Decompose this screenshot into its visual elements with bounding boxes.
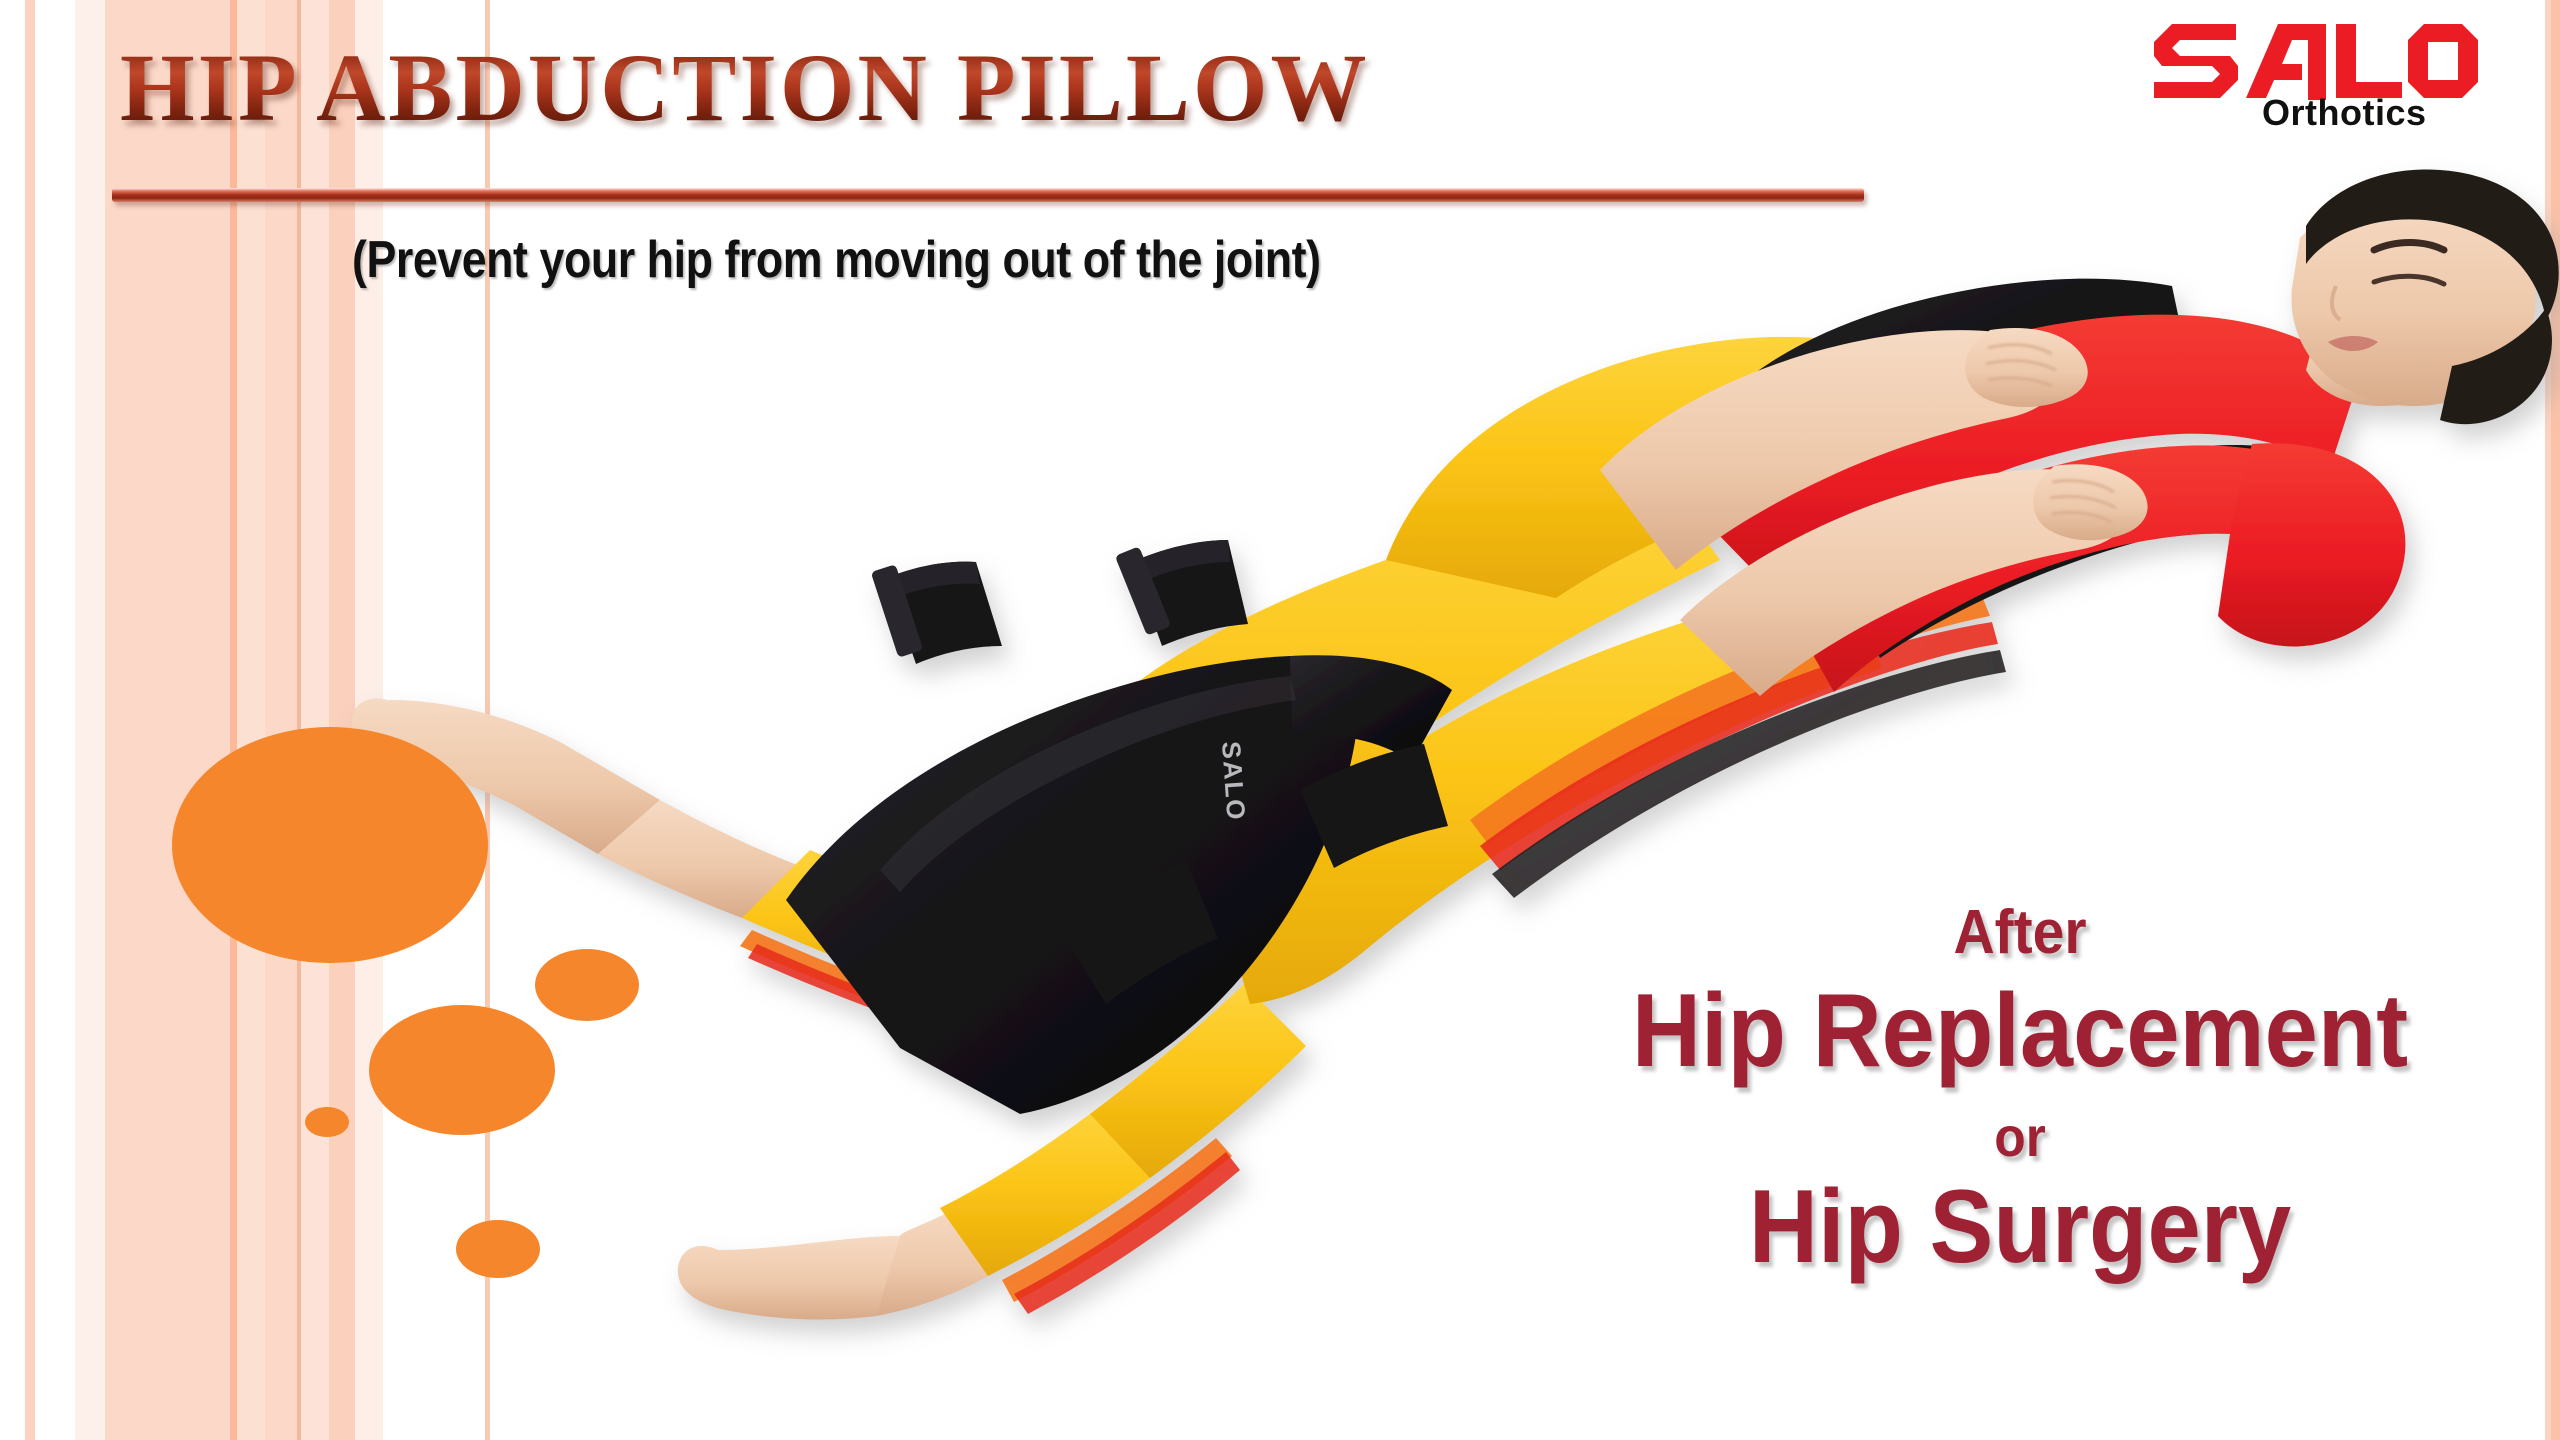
page-subtitle: (Prevent your hip from moving out of the…: [352, 230, 1321, 290]
bubble-4: [456, 1220, 540, 1278]
logo-tagline: Orthotics: [2262, 92, 2427, 134]
stripe-2: [105, 0, 230, 1440]
decorative-stripes-left: [0, 0, 520, 1440]
bubble-3: [305, 1107, 349, 1137]
bubble-0: [172, 727, 488, 963]
stripe-7: [301, 0, 329, 1440]
stripe-1: [75, 0, 105, 1440]
callout-line-after: After: [1542, 900, 2499, 965]
stripe-4: [237, 0, 265, 1440]
brand-logo[interactable]: Orthotics: [2150, 22, 2510, 142]
stripe-0: [25, 0, 35, 1440]
poster-canvas: SALO HIP ABDUCTION PILLOW (Prevent your …: [0, 0, 2560, 1440]
stripe-8: [329, 0, 355, 1440]
callout-line-hip-replacement: Hip Replacement: [1542, 977, 2499, 1086]
stripe-12: [2551, 0, 2560, 1440]
title-underline: [112, 188, 1864, 202]
stripe-3: [230, 0, 237, 1440]
salo-wordmark-icon: [2150, 22, 2480, 100]
stripe-5: [265, 0, 297, 1440]
callout-block: After Hip Replacement or Hip Surgery: [1500, 900, 2540, 1282]
bubble-1: [535, 949, 639, 1021]
bubble-2: [369, 1005, 555, 1135]
decorative-stripes-right: [2538, 0, 2560, 1440]
callout-line-hip-surgery: Hip Surgery: [1542, 1173, 2499, 1282]
callout-line-or: or: [1542, 1108, 2499, 1167]
title-block: HIP ABDUCTION PILLOW: [120, 38, 1920, 139]
page-title: HIP ABDUCTION PILLOW: [120, 38, 1920, 139]
stripe-9: [355, 0, 383, 1440]
pillow-brand-label: SALO: [1216, 740, 1252, 822]
